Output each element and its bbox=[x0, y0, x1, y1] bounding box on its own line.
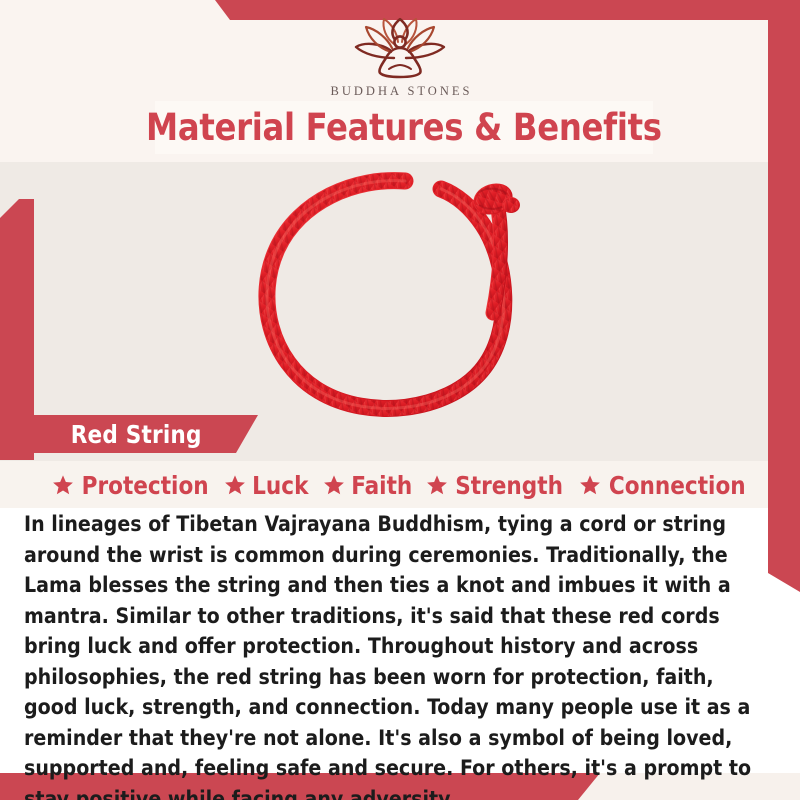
feature-label: Luck bbox=[252, 473, 308, 498]
feature-item-strength: Strength bbox=[426, 473, 565, 498]
red-string-bracelet-image bbox=[235, 163, 565, 421]
lotus-meditation-icon bbox=[334, 14, 466, 80]
star-icon bbox=[426, 474, 448, 496]
feature-item-connection: Connection bbox=[579, 473, 749, 498]
star-icon bbox=[52, 474, 74, 496]
feature-item-luck: Luck bbox=[224, 473, 310, 498]
product-image-stage bbox=[0, 162, 800, 422]
feature-benefits-row: Protection Luck Faith Strength Connectio bbox=[0, 466, 800, 504]
page-title: Material Features & Benefits bbox=[146, 109, 662, 146]
feature-item-faith: Faith bbox=[323, 473, 414, 498]
feature-label: Connection bbox=[608, 473, 745, 498]
material-name-banner: Red String bbox=[0, 415, 258, 453]
title-plate: Material Features & Benefits bbox=[155, 101, 653, 154]
feature-label: Faith bbox=[351, 473, 412, 498]
feature-item-protection: Protection bbox=[52, 473, 211, 498]
feature-label: Protection bbox=[82, 473, 209, 498]
infographic-poster: BUDDHA STONES Material Features & Benefi… bbox=[0, 0, 800, 800]
brand-logo: BUDDHA STONES bbox=[0, 14, 800, 99]
star-icon bbox=[579, 474, 601, 496]
star-icon bbox=[224, 474, 246, 496]
description-paragraph: In lineages of Tibetan Vajrayana Buddhis… bbox=[24, 510, 765, 800]
star-icon bbox=[323, 474, 345, 496]
feature-label: Strength bbox=[456, 473, 564, 498]
material-name-label: Red String bbox=[71, 420, 202, 449]
brand-wordmark: BUDDHA STONES bbox=[0, 84, 800, 99]
